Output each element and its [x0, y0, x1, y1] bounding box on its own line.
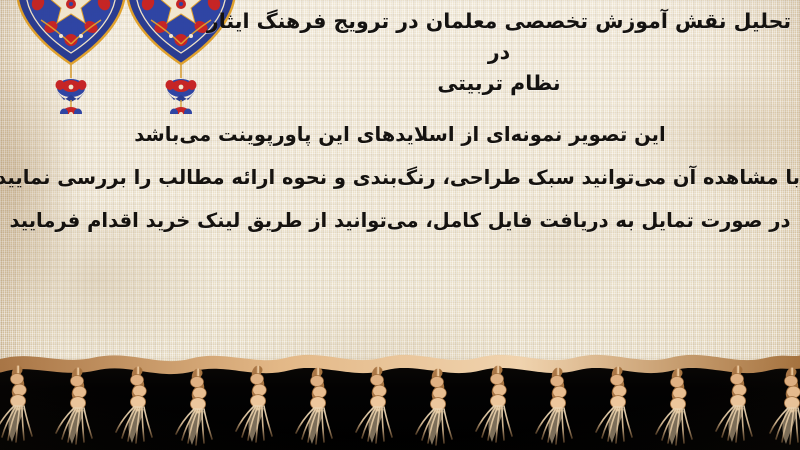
- black-backdrop-band: [0, 368, 800, 450]
- slide-title-line-2: نظام تربیتی: [206, 68, 792, 99]
- slide-body-line-2: با مشاهده آن می‌توانید سبک طراحی، رنگ‌بن…: [0, 156, 800, 199]
- slide-body-line-3: در صورت تمایل به دریافت فایل کامل، می‌تو…: [0, 199, 800, 242]
- slide-title: تحلیل نقش آموزش تخصصی معلمان در ترویج فر…: [206, 6, 792, 99]
- slide-body: این تصویر نمونه‌ای از اسلایدهای این پاور…: [0, 113, 800, 242]
- presentation-slide: تحلیل نقش آموزش تخصصی معلمان در ترویج فر…: [0, 0, 800, 450]
- slide-title-line-1: تحلیل نقش آموزش تخصصی معلمان در ترویج فر…: [206, 6, 792, 68]
- slide-body-line-1: این تصویر نمونه‌ای از اسلایدهای این پاور…: [0, 113, 800, 156]
